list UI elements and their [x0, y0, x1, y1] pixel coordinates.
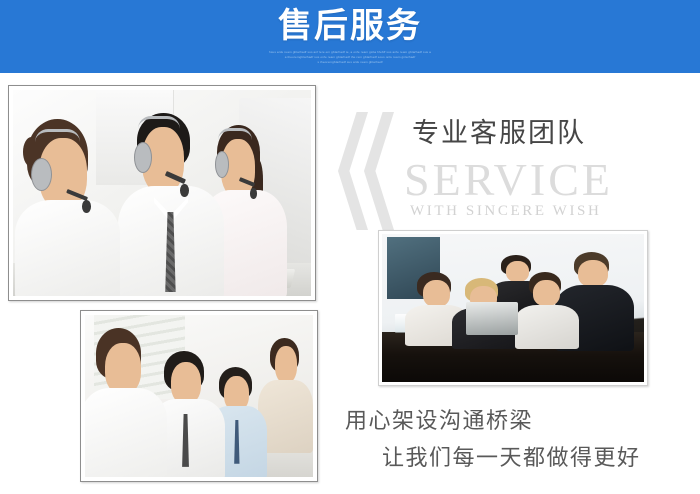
- photo-meeting: [85, 315, 313, 477]
- agent-center-man: [123, 113, 218, 296]
- meeting-person-front: [85, 328, 163, 477]
- face: [533, 280, 560, 307]
- shirt: [15, 200, 120, 296]
- banner-subtext-line-3: s theoremgblarhadf sus anfe ream gblarha…: [0, 60, 700, 65]
- microphone-icon: [82, 200, 91, 212]
- face: [171, 362, 201, 404]
- service-heading-cn: 专业客服团队: [412, 116, 586, 150]
- laptop: [466, 302, 518, 335]
- face: [275, 346, 297, 383]
- page-title: 售后服务: [0, 6, 700, 46]
- agent-front-woman: [19, 119, 120, 296]
- chevron-left-icon-inner: [364, 112, 394, 230]
- shirt: [85, 388, 167, 477]
- shirt: [515, 305, 580, 349]
- photo-frame-business: [378, 230, 648, 386]
- headset-band: [35, 129, 80, 141]
- headset-earcup-icon: [134, 142, 152, 173]
- business-person-seated-man: [518, 272, 576, 346]
- service-heading-en: SERVICE: [404, 154, 613, 206]
- page-header-banner: 售后服务 hsus anfe ream gblarhadf sus anf le…: [0, 0, 700, 73]
- microphone-icon: [250, 188, 256, 198]
- photo-frame-agents: [8, 85, 316, 301]
- face: [423, 280, 450, 307]
- microphone-icon: [180, 184, 189, 197]
- face: [105, 343, 141, 394]
- service-subheading: WITH SINCERE WISH: [410, 201, 601, 221]
- photo-agents: [13, 90, 311, 296]
- photo-business: [382, 234, 644, 382]
- tagline-line-2: 让我们每一天都做得更好: [382, 440, 641, 472]
- chevron-left-icon: [338, 112, 408, 230]
- headset-band: [218, 128, 252, 140]
- chevron-left-icon-outer: [338, 112, 368, 230]
- headset-band: [138, 116, 181, 129]
- face: [578, 260, 608, 287]
- tagline-line-1: 用心架设沟通桥梁: [345, 403, 533, 435]
- photo-frame-meeting: [80, 310, 318, 482]
- banner-subtext: hsus anfe ream gblarhadf sus anf lere em…: [0, 50, 700, 66]
